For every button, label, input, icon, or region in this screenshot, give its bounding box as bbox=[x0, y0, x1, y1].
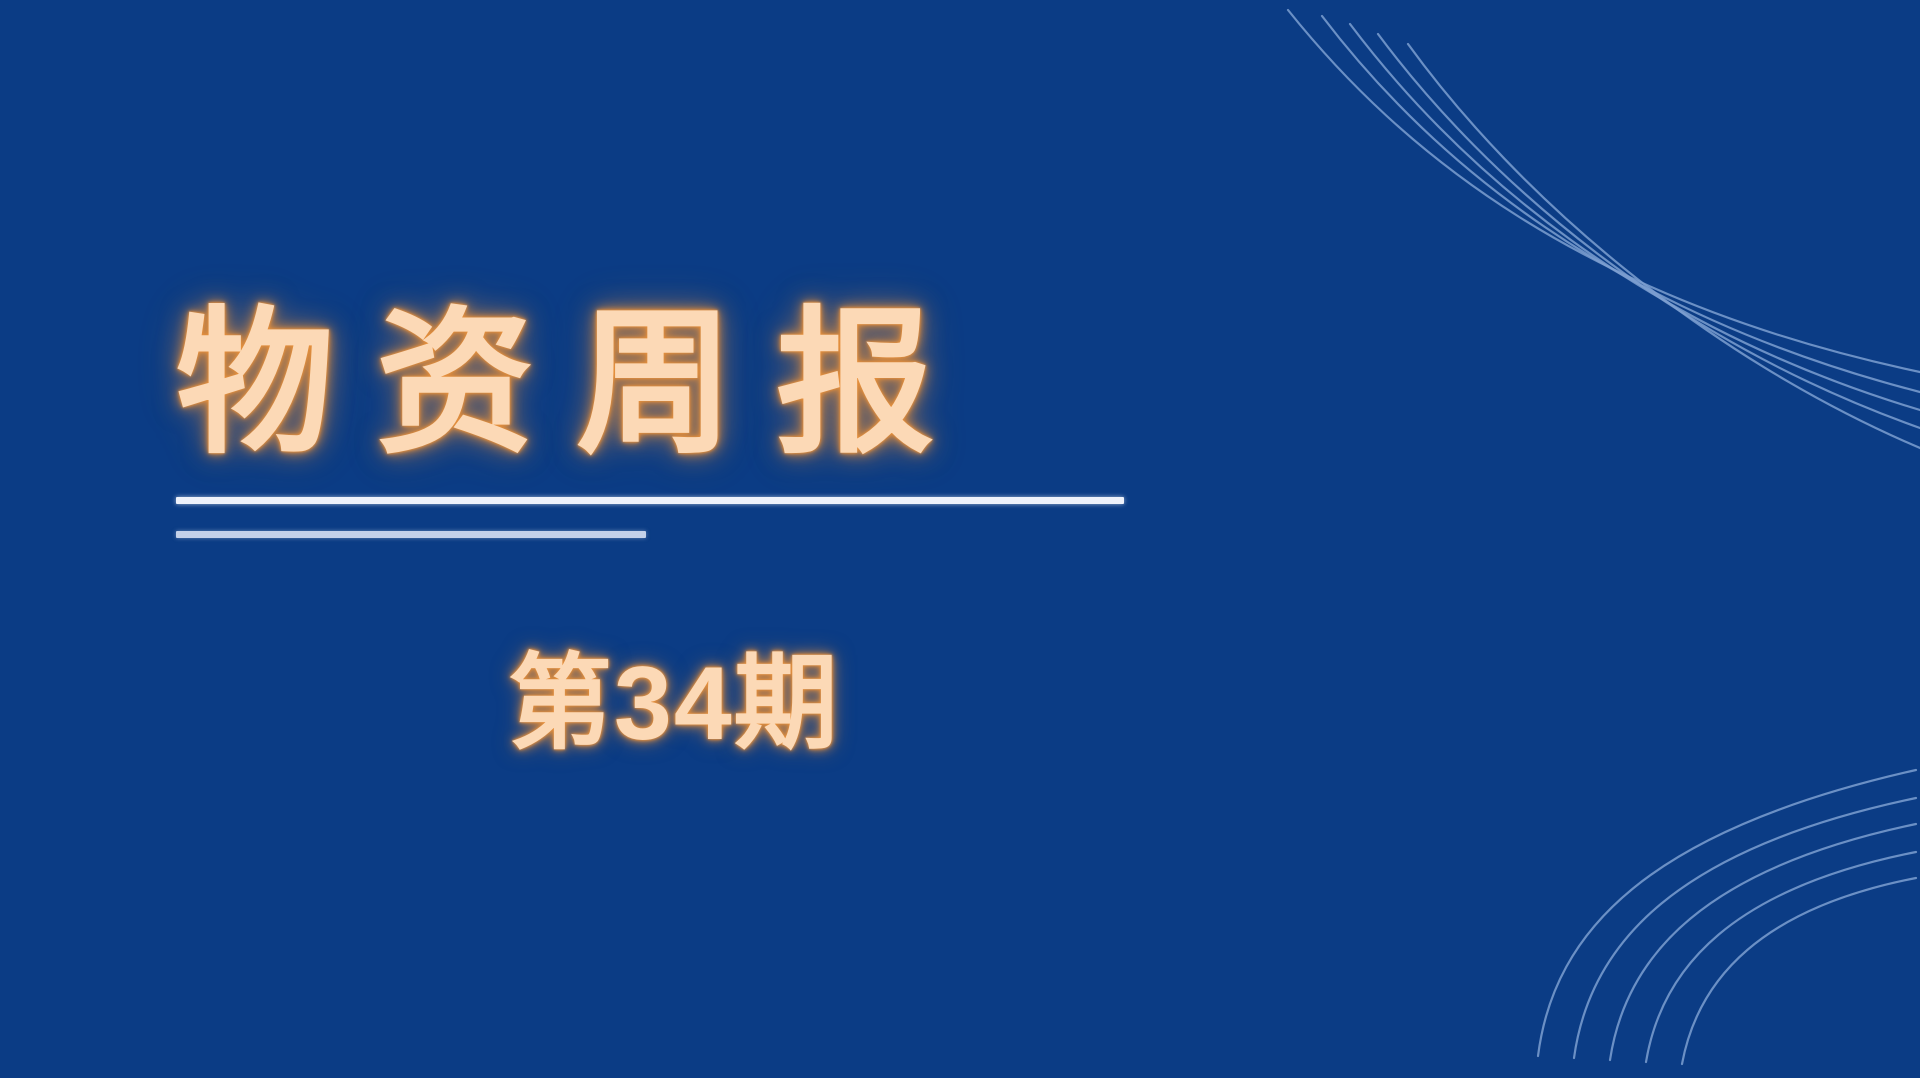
top-right-curve-decoration bbox=[1280, 0, 1920, 560]
title-accent-rules bbox=[176, 497, 1124, 538]
title-slide: 物资周报 第34期 bbox=[0, 0, 1920, 1078]
accent-rule-secondary bbox=[176, 531, 646, 538]
title-block: 物资周报 bbox=[176, 296, 1176, 473]
accent-rule-primary bbox=[176, 497, 1124, 504]
page-title: 物资周报 bbox=[176, 296, 1176, 473]
issue-subtitle: 第34期 bbox=[508, 645, 840, 765]
bottom-right-curve-decoration bbox=[1520, 718, 1920, 1078]
